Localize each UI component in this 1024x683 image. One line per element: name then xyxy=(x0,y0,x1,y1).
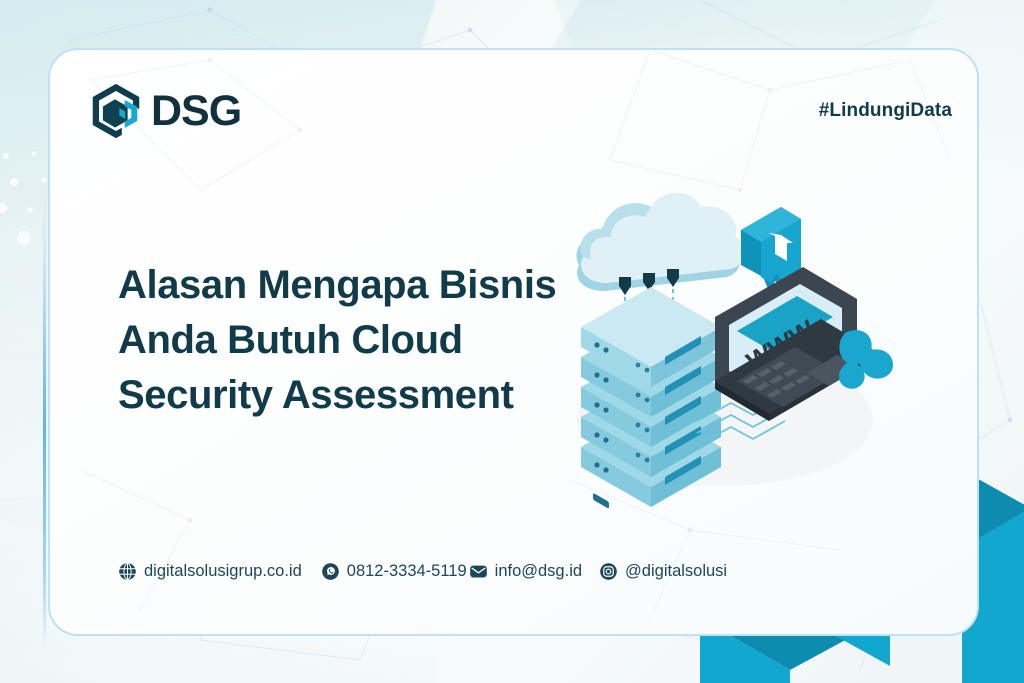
contact-whatsapp-text: 0812-3334-5119 xyxy=(347,562,467,581)
headline-line-2: Anda Butuh Cloud xyxy=(118,313,588,368)
contact-item-website[interactable]: digitalsolusigrup.co.id xyxy=(118,562,302,581)
contact-item-email[interactable]: info@dsg.id xyxy=(469,562,582,581)
contact-item-instagram[interactable]: @digitalsolusi xyxy=(599,562,727,581)
email-icon xyxy=(469,562,488,581)
headline-line-1: Alasan Mengapa Bisnis xyxy=(118,258,588,313)
headline-line-3: Security Assessment xyxy=(118,368,588,423)
contact-website-text: digitalsolusigrup.co.id xyxy=(144,562,302,581)
logo-wordmark: DSG xyxy=(151,90,241,133)
instagram-icon xyxy=(599,562,618,581)
whatsapp-icon xyxy=(321,562,340,581)
server-rack-icon xyxy=(581,287,721,509)
contact-instagram-text: @digitalsolusi xyxy=(625,562,727,581)
globe-icon xyxy=(118,562,137,581)
banner-canvas: DSG #LindungiData Alasan Mengapa Bisnis … xyxy=(0,0,1024,683)
contact-bar: digitalsolusigrup.co.id 0812-3334-5119 xyxy=(118,562,727,581)
vertical-accent-line xyxy=(43,180,46,650)
headline: Alasan Mengapa Bisnis Anda Butuh Cloud S… xyxy=(118,258,588,424)
leaf-icon xyxy=(839,330,893,389)
hexagon-cube-logo-icon xyxy=(85,80,147,142)
campaign-hashtag: #LindungiData xyxy=(819,100,952,122)
cloud-server-laptop-isometric-illustration: WWW xyxy=(545,185,915,515)
contact-item-whatsapp[interactable]: 0812-3334-5119 xyxy=(321,562,467,581)
cloud-icon xyxy=(576,193,744,291)
brand-logo[interactable]: DSG xyxy=(85,80,241,142)
contact-email-text: info@dsg.id xyxy=(495,562,582,581)
